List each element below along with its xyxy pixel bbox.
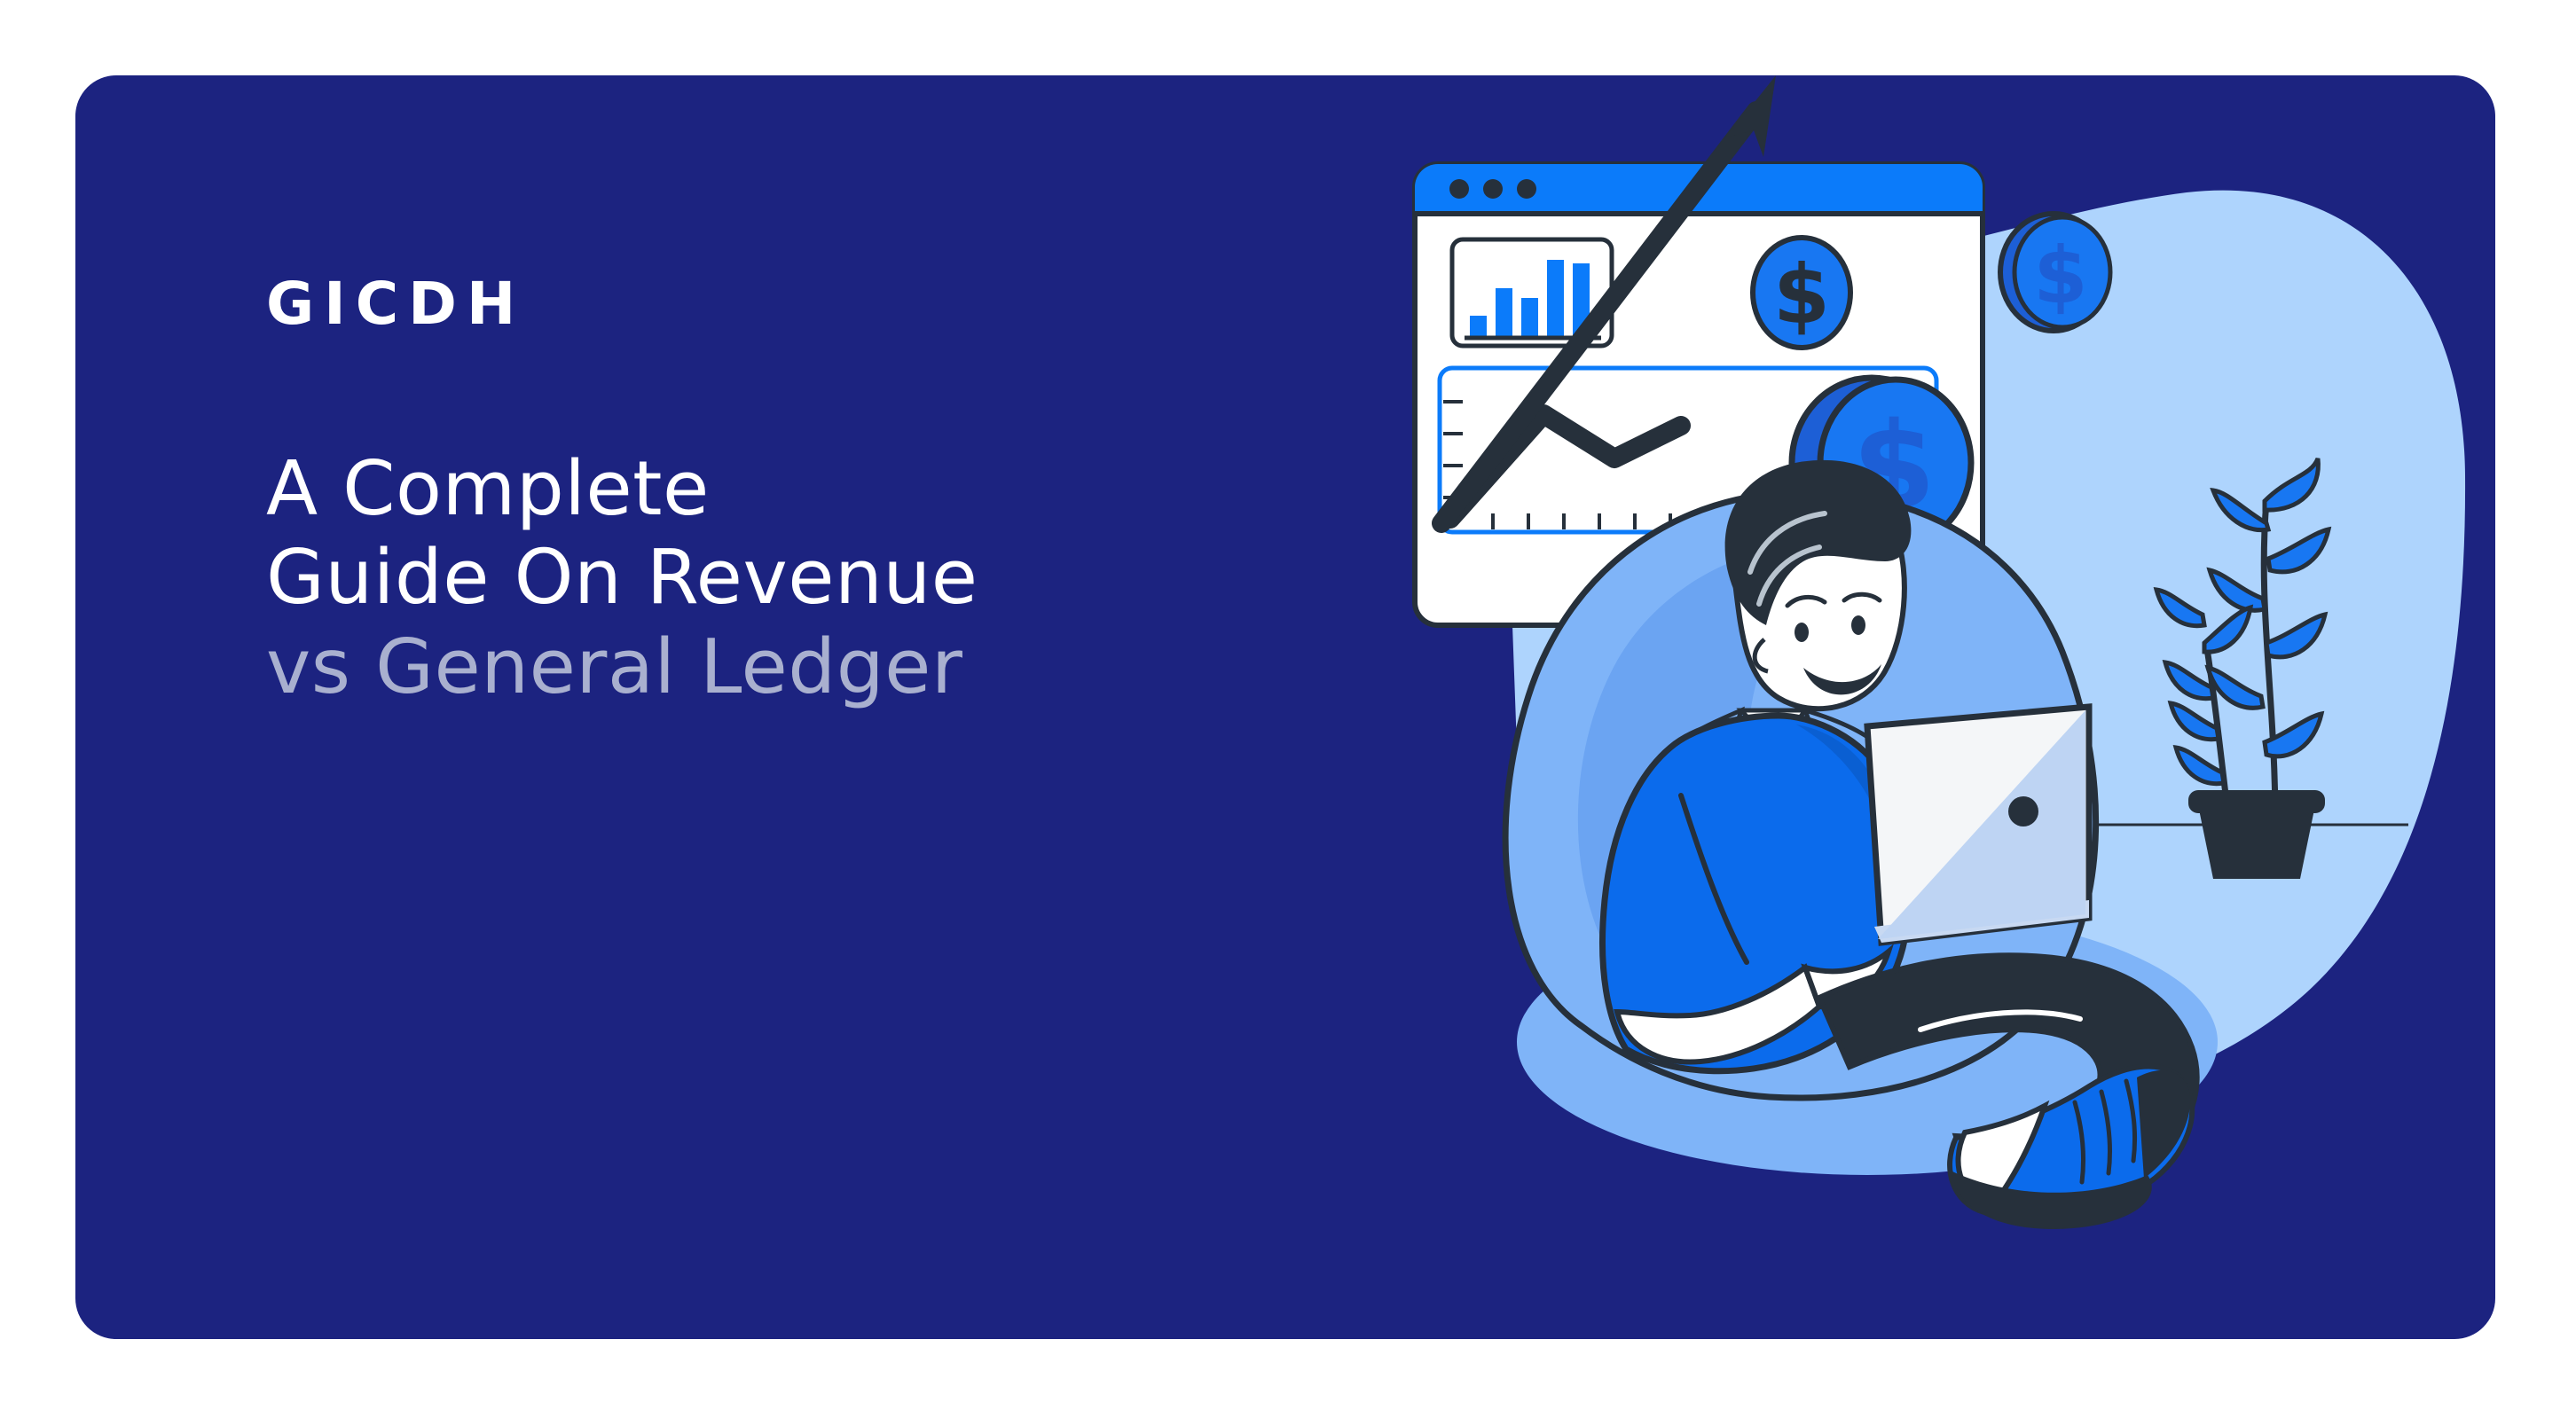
brand-logo: GICDH [266,275,1419,333]
page-title: A Complete Guide On Revenue vs General L… [266,445,1419,712]
window-dot [1517,179,1536,199]
headline-line-2: Guide On Revenue [266,534,1419,623]
window-dot [1483,179,1503,199]
eye [1795,623,1809,642]
svg-text:$: $ [2033,230,2087,321]
text-column: GICDH A Complete Guide On Revenue vs Gen… [266,275,1419,712]
dollar-coin-small: $ [2000,214,2110,331]
dollar-coin-inline: $ [1753,238,1850,348]
svg-text:$: $ [1773,247,1830,342]
window-dot [1449,179,1469,199]
laptop-camera-dot [2008,796,2038,827]
banner-card: $ [75,75,2495,1339]
eye [1851,615,1865,635]
headline-line-1: A Complete [266,445,1419,534]
headline-line-3: vs General Ledger [266,623,1419,712]
hero-illustration: $ [1388,75,2479,1339]
banner-canvas: $ [0,0,2576,1418]
